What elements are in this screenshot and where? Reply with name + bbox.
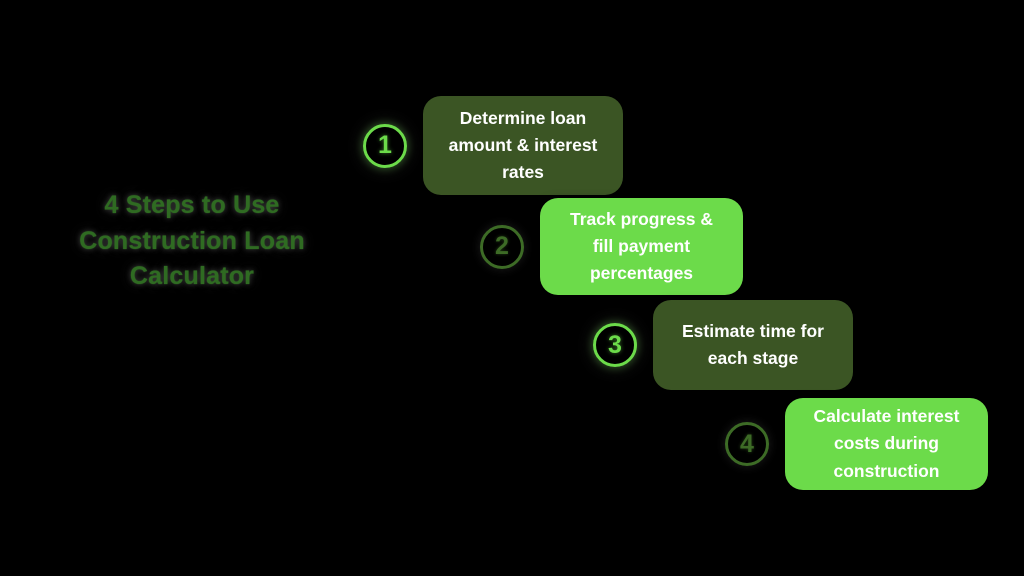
step-card-1-line-3: rates (449, 159, 598, 186)
step-card-4-line-1: Calculate interest (814, 403, 960, 430)
step-number-badge-1: 1 (363, 124, 407, 168)
step-card-3-line-2: each stage (682, 345, 824, 372)
step-number-badge-4: 4 (725, 422, 769, 466)
step-card-2-line-1: Track progress & (570, 206, 713, 233)
step-card-1: Determine loan amount & interest rates (423, 96, 623, 195)
step-card-3: Estimate time for each stage (653, 300, 853, 390)
step-item-4: 4 Calculate interest costs during constr… (725, 398, 988, 490)
step-card-4: Calculate interest costs during construc… (785, 398, 988, 490)
step-card-4-line-2: costs during (814, 430, 960, 457)
step-card-2: Track progress & fill payment percentage… (540, 198, 743, 295)
step-card-2-line-2: fill payment (570, 233, 713, 260)
page-title: 4 Steps to Use Construction Loan Calcula… (46, 188, 338, 295)
step-item-2: 2 Track progress & fill payment percenta… (480, 198, 743, 295)
step-number-badge-2: 2 (480, 225, 524, 269)
step-card-1-line-2: amount & interest (449, 132, 598, 159)
page-title-line-2: Construction Loan (46, 224, 338, 260)
step-card-2-line-3: percentages (570, 260, 713, 287)
infographic-canvas: 4 Steps to Use Construction Loan Calcula… (0, 0, 1024, 576)
page-title-line-1: 4 Steps to Use (46, 188, 338, 224)
page-title-line-3: Calculator (46, 259, 338, 295)
step-item-3: 3 Estimate time for each stage (593, 300, 853, 390)
step-number-badge-3: 3 (593, 323, 637, 367)
step-card-1-line-1: Determine loan (449, 105, 598, 132)
step-card-4-line-3: construction (814, 458, 960, 485)
step-card-3-line-1: Estimate time for (682, 318, 824, 345)
step-item-1: 1 Determine loan amount & interest rates (363, 96, 623, 195)
